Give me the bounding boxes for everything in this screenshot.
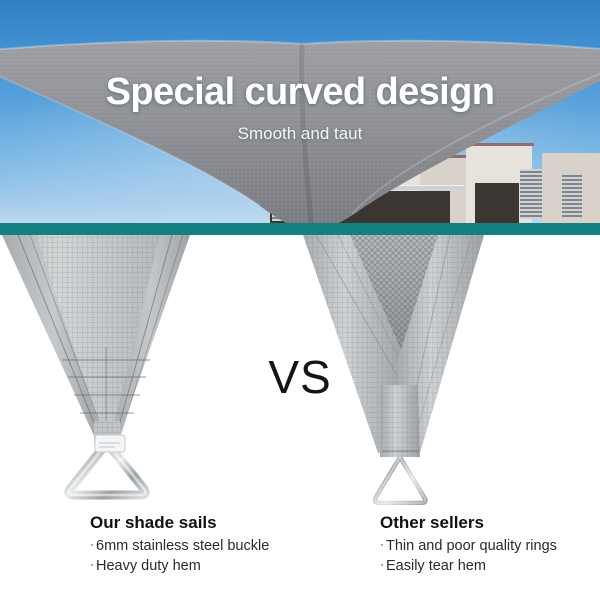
bullet-icon: · — [380, 534, 384, 554]
list-item-label: Heavy duty hem — [96, 558, 201, 574]
page-title: Special curved design — [0, 70, 600, 114]
hero-banner: Special curved design Smooth and taut — [0, 0, 600, 223]
list-item: ·6mm stainless steel buckle — [90, 536, 340, 556]
list-item: ·Easily tear hem — [380, 556, 595, 576]
our-sail-feature-column: Our shade sails ·6mm stainless steel buc… — [90, 512, 340, 576]
page-subtitle: Smooth and taut — [0, 123, 600, 145]
product-comparison-image: Special curved design Smooth and taut — [0, 0, 600, 600]
other-sellers-feature-column: Other sellers ·Thin and poor quality rin… — [380, 512, 595, 576]
bullet-icon: · — [90, 554, 94, 574]
list-item-label: Easily tear hem — [386, 558, 486, 574]
teal-divider — [0, 223, 600, 235]
other-sellers-bullet-list: ·Thin and poor quality rings ·Easily tea… — [380, 536, 595, 576]
list-item: ·Thin and poor quality rings — [380, 536, 595, 556]
list-item-label: 6mm stainless steel buckle — [96, 538, 269, 554]
bullet-icon: · — [380, 554, 384, 574]
our-sail-heading: Our shade sails — [90, 512, 340, 533]
bullet-icon: · — [90, 534, 94, 554]
our-sail-bullet-list: ·6mm stainless steel buckle ·Heavy duty … — [90, 536, 340, 576]
vs-label: VS — [0, 352, 600, 402]
other-sellers-heading: Other sellers — [380, 512, 595, 533]
thin-ring — [375, 457, 425, 503]
list-item: ·Heavy duty hem — [90, 556, 340, 576]
list-item-label: Thin and poor quality rings — [386, 538, 557, 554]
